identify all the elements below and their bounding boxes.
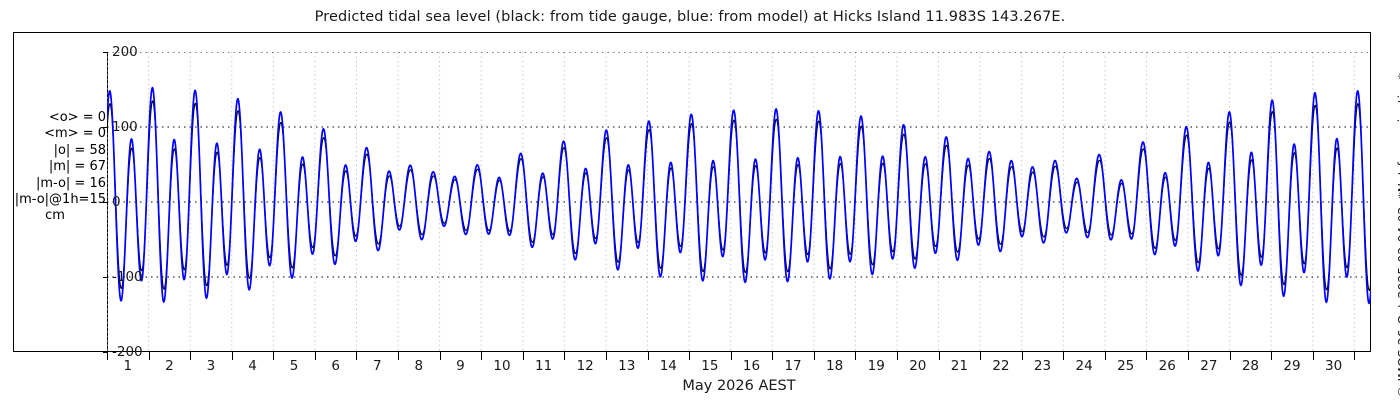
x-axis-tick-label: 23 [1034, 358, 1051, 374]
x-axis-tick-mark [440, 352, 441, 360]
x-axis-tick-mark [1271, 352, 1272, 360]
x-axis-tick-label: 14 [660, 358, 677, 374]
x-axis-tick-mark [398, 352, 399, 360]
x-axis-tick-mark [107, 352, 108, 360]
x-axis-tick-label: 11 [535, 358, 552, 374]
x-axis-tick-mark [855, 352, 856, 360]
x-axis-tick-mark [232, 352, 233, 360]
x-axis-tick-label: 22 [992, 358, 1009, 374]
x-axis-tick-label: 19 [868, 358, 885, 374]
stat-mean-model: <m> = 0 [4, 126, 106, 142]
x-axis-tick-label: 4 [248, 358, 257, 374]
x-axis-tick-mark [481, 352, 482, 360]
x-axis-tick-mark [564, 352, 565, 360]
tidal-chart-figure: Predicted tidal sea level (black: from t… [0, 0, 1400, 400]
x-axis-tick-label: 24 [1076, 358, 1093, 374]
y-axis-tick-mark [103, 352, 108, 353]
copyright-notice: © IMOS 26-Oct-2025 02:04:02. *Not for na… [1396, 73, 1400, 398]
x-axis-tick-label: 10 [493, 358, 510, 374]
stat-abs-model: |m| = 67 [4, 159, 106, 175]
x-axis-tick-label: 1 [123, 358, 132, 374]
x-axis-tick-mark [190, 352, 191, 360]
x-axis-tick-label: 27 [1200, 358, 1217, 374]
x-axis-tick-mark [1188, 352, 1189, 360]
stat-abs-difference-1h: |m-o|@1h=15 [4, 192, 106, 208]
stat-unit-label: cm [4, 208, 106, 224]
x-axis-tick-mark [1230, 352, 1231, 360]
x-axis-tick-mark [689, 352, 690, 360]
tidal-series-plot [107, 52, 1371, 352]
stat-abs-difference: |m-o| = 16 [4, 176, 106, 192]
x-axis-tick-mark [149, 352, 150, 360]
x-axis-tick-label: 3 [207, 358, 216, 374]
x-axis-tick-mark [1146, 352, 1147, 360]
x-axis-tick-mark [606, 352, 607, 360]
x-axis-tick-mark [814, 352, 815, 360]
x-axis-tick-mark [1063, 352, 1064, 360]
x-axis-tick-label: 26 [1159, 358, 1176, 374]
x-axis-tick-label: 30 [1325, 358, 1342, 374]
x-axis-tick-mark [939, 352, 940, 360]
x-axis-tick-mark [1105, 352, 1106, 360]
x-axis-tick-mark [273, 352, 274, 360]
x-axis-tick-label: 15 [701, 358, 718, 374]
x-axis-tick-mark [523, 352, 524, 360]
x-axis-tick-label: 20 [909, 358, 926, 374]
x-axis-tick-label: 9 [456, 358, 465, 374]
x-axis-tick-label: 2 [165, 358, 174, 374]
x-axis-tick-label: 28 [1242, 358, 1259, 374]
x-axis-tick-label: 12 [577, 358, 594, 374]
x-axis-tick-mark [772, 352, 773, 360]
x-axis-tick-mark [315, 352, 316, 360]
plot-area [107, 52, 1371, 352]
x-axis-tick-label: 18 [826, 358, 843, 374]
stat-abs-observed: |o| = 58 [4, 143, 106, 159]
x-axis-tick-label: 25 [1117, 358, 1134, 374]
x-axis-tick-label: 7 [373, 358, 382, 374]
x-axis-tick-mark [1354, 352, 1355, 360]
x-axis-tick-label: 8 [415, 358, 424, 374]
statistics-panel: <o> = 0 <m> = 0 |o| = 58 |m| = 67 |m-o| … [4, 110, 106, 225]
x-axis-tick-mark [1022, 352, 1023, 360]
x-axis-tick-mark [897, 352, 898, 360]
x-axis-tick-label: 29 [1283, 358, 1300, 374]
page-title: Predicted tidal sea level (black: from t… [0, 9, 1380, 25]
x-axis-tick-label: 16 [743, 358, 760, 374]
series-line-model [107, 88, 1371, 303]
x-axis-tick-label: 6 [331, 358, 340, 374]
x-axis-tick-label: 5 [290, 358, 299, 374]
x-axis-tick-label: 17 [784, 358, 801, 374]
x-axis-tick-mark [1313, 352, 1314, 360]
x-axis-tick-mark [648, 352, 649, 360]
stat-mean-observed: <o> = 0 [4, 110, 106, 126]
x-axis-title: May 2026 AEST [107, 378, 1371, 394]
x-axis-tick-label: 21 [951, 358, 968, 374]
x-axis-tick-mark [980, 352, 981, 360]
x-axis-tick-label: 13 [618, 358, 635, 374]
x-axis-tick-mark [731, 352, 732, 360]
x-axis-tick-mark [356, 352, 357, 360]
